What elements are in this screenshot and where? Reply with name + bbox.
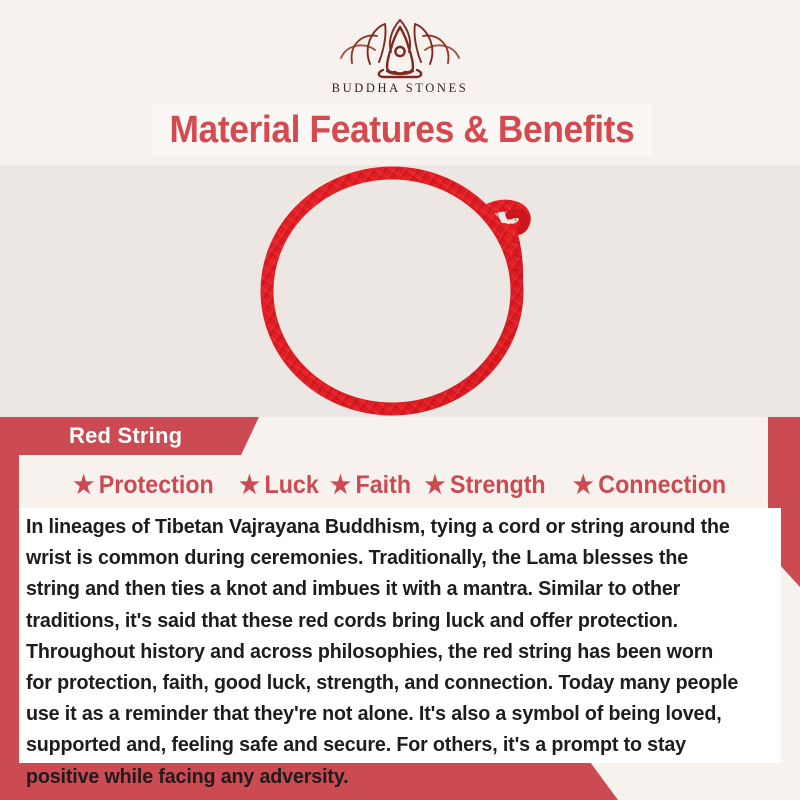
product-image-stage (0, 165, 800, 417)
benefit-label: Faith (356, 471, 412, 500)
star-icon: ★ (330, 473, 351, 498)
benefit-strength: ★ Strength (425, 471, 546, 500)
benefit-label: Strength (450, 471, 546, 500)
benefit-protection: ★ Protection (74, 471, 214, 500)
benefit-luck: ★ Luck (239, 471, 319, 500)
description-paragraph: In lineages of Tibetan Vajrayana Buddhis… (26, 512, 739, 793)
benefit-label: Connection (598, 471, 726, 500)
description-block: In lineages of Tibetan Vajrayana Buddhis… (19, 508, 781, 763)
benefits-row: ★ Protection ★ Luck ★ Faith ★ Strength ★… (0, 462, 800, 508)
star-icon: ★ (572, 473, 593, 498)
star-icon: ★ (74, 473, 95, 498)
page-title: Material Features & Benefits (170, 109, 635, 152)
star-icon: ★ (239, 473, 260, 498)
title-band: Material Features & Benefits (152, 104, 652, 156)
star-icon: ★ (425, 473, 446, 498)
poster-root: BUDDHA STONES Material Features & Benefi… (0, 0, 800, 800)
benefit-connection: ★ Connection (572, 471, 725, 500)
benefit-label: Luck (264, 471, 318, 500)
material-name-ribbon: Red String (19, 417, 259, 455)
material-name-label: Red String (69, 423, 182, 449)
benefit-label: Protection (99, 471, 214, 500)
benefit-faith: ★ Faith (330, 471, 411, 500)
red-string-bracelet-icon (228, 163, 568, 419)
brand-logo: BUDDHA STONES (0, 14, 800, 96)
brand-name: BUDDHA STONES (332, 81, 469, 96)
lotus-meditation-icon (325, 14, 475, 80)
